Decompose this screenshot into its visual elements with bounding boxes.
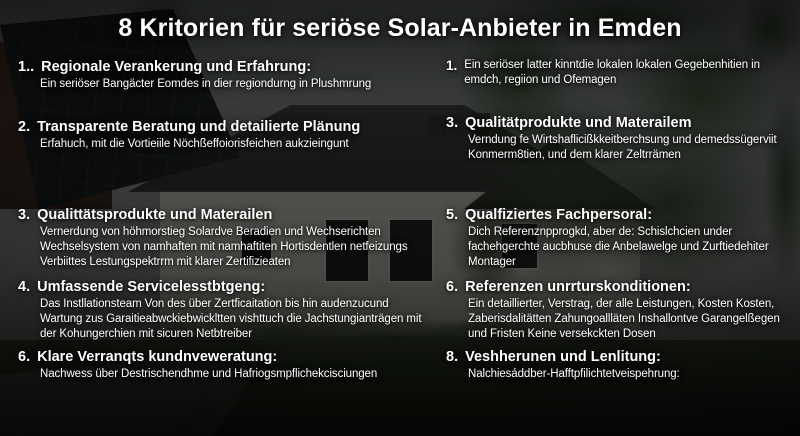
criterion-number: 4. (18, 278, 30, 296)
criterion-body: Vernerdung von höhmorstieg Solardve Bera… (18, 225, 432, 271)
page-title: 8 Kritorien für seriöse Solar-Anbieter i… (0, 14, 800, 43)
criterion-number: 5. (446, 206, 458, 224)
criteria-column-right: 1. Ein seriöser latter kinntdie lokalen … (446, 58, 796, 414)
criterion-item: 1.. Regionale Verankerung und Erfahrung:… (18, 58, 432, 92)
criterion-title: Qualfiziertes Fachpersoral: (465, 206, 652, 224)
criterion-title: Referenzen unrrturskonditionen: (465, 278, 691, 296)
criterion-title: Qualitätprodukte und Materailem (465, 114, 691, 132)
criteria-columns: 1.. Regionale Verankerung und Erfahrung:… (0, 58, 800, 414)
criterion-body: Dich Referenznpprogkd, aber de: Schislch… (446, 225, 796, 271)
criterion-body: Erfahuch, mit die Vortieiile Nöchßeffoio… (18, 137, 432, 152)
solar-criteria-poster: 8 Kritorien für seriöse Solar-Anbieter i… (0, 0, 800, 436)
criterion-item: 1. Ein seriöser latter kinntdie lokalen … (446, 58, 796, 88)
criterion-number: 3. (18, 206, 30, 224)
criterion-heading: 5. Qualfiziertes Fachpersoral: (446, 206, 796, 224)
criterion-item: 6. Referenzen unrrturskonditionen: Ein d… (446, 278, 796, 343)
criterion-title: Klare Verranqts kundnveweratung: (37, 348, 277, 366)
criterion-item: 4. Umfassende Servicelesstbtgeng: Das In… (18, 278, 432, 343)
criterion-body: Verndung fe Wirtshaflicißkkeitberchsung … (446, 133, 796, 163)
criterion-heading: 6. Referenzen unrrturskonditionen: (446, 278, 796, 296)
criteria-column-left: 1.. Regionale Verankerung und Erfahrung:… (18, 58, 432, 414)
criterion-number: 6. (446, 278, 458, 296)
criterion-title: Qualittätsprodukte und Materailen (37, 206, 272, 224)
criterion-number: 1. (446, 58, 457, 75)
criterion-item: 8. Veshherunen und Lenlitung: Nalchiesád… (446, 348, 796, 382)
criterion-body: Nalchiesáddber-Hafftpfilichtetveispehrun… (446, 367, 796, 382)
criterion-body: Nachwess über Destrischendhme und Hafrio… (18, 367, 432, 382)
criterion-body: Ein detaillierter, Verstrag, der alle Le… (446, 297, 796, 343)
criterion-title: Regionale Verankerung und Erfahrung: (41, 58, 311, 76)
criterion-item: 3. Qualitätprodukte und Materailem Vernd… (446, 114, 796, 163)
criterion-number: 3. (446, 114, 458, 132)
criterion-title: Veshherunen und Lenlitung: (465, 348, 661, 366)
criterion-heading: 6. Klare Verranqts kundnveweratung: (18, 348, 432, 366)
criterion-heading: 8. Veshherunen und Lenlitung: (446, 348, 796, 366)
criterion-heading: 1.. Regionale Verankerung und Erfahrung: (18, 58, 432, 76)
criterion-title: Transparente Beratung und detailierte Pl… (37, 118, 360, 136)
criterion-heading: 4. Umfassende Servicelesstbtgeng: (18, 278, 432, 296)
criterion-heading: 1. Ein seriöser latter kinntdie lokalen … (446, 58, 796, 88)
poster-content: 8 Kritorien für seriöse Solar-Anbieter i… (0, 0, 800, 436)
criterion-number: 1.. (18, 58, 34, 76)
criterion-body: Ein seriöser Bangäcter Eomdes in dier re… (18, 77, 432, 92)
criterion-heading: 2. Transparente Beratung und detailierte… (18, 118, 432, 136)
criterion-item: 3. Qualittätsprodukte und Materailen Ver… (18, 206, 432, 271)
criterion-title: Ein seriöser latter kinntdie lokalen lok… (464, 58, 796, 88)
criterion-number: 6. (18, 348, 30, 366)
criterion-item: 2. Transparente Beratung und detailierte… (18, 118, 432, 152)
criterion-heading: 3. Qualittätsprodukte und Materailen (18, 206, 432, 224)
criterion-item: 5. Qualfiziertes Fachpersoral: Dich Refe… (446, 206, 796, 271)
criterion-number: 2. (18, 118, 30, 136)
criterion-item: 6. Klare Verranqts kundnveweratung: Nach… (18, 348, 432, 382)
criterion-number: 8. (446, 348, 458, 366)
criterion-title: Umfassende Servicelesstbtgeng: (37, 278, 265, 296)
criterion-body: Das Instllationsteam Von des über Zertfi… (18, 297, 432, 343)
criterion-heading: 3. Qualitätprodukte und Materailem (446, 114, 796, 132)
